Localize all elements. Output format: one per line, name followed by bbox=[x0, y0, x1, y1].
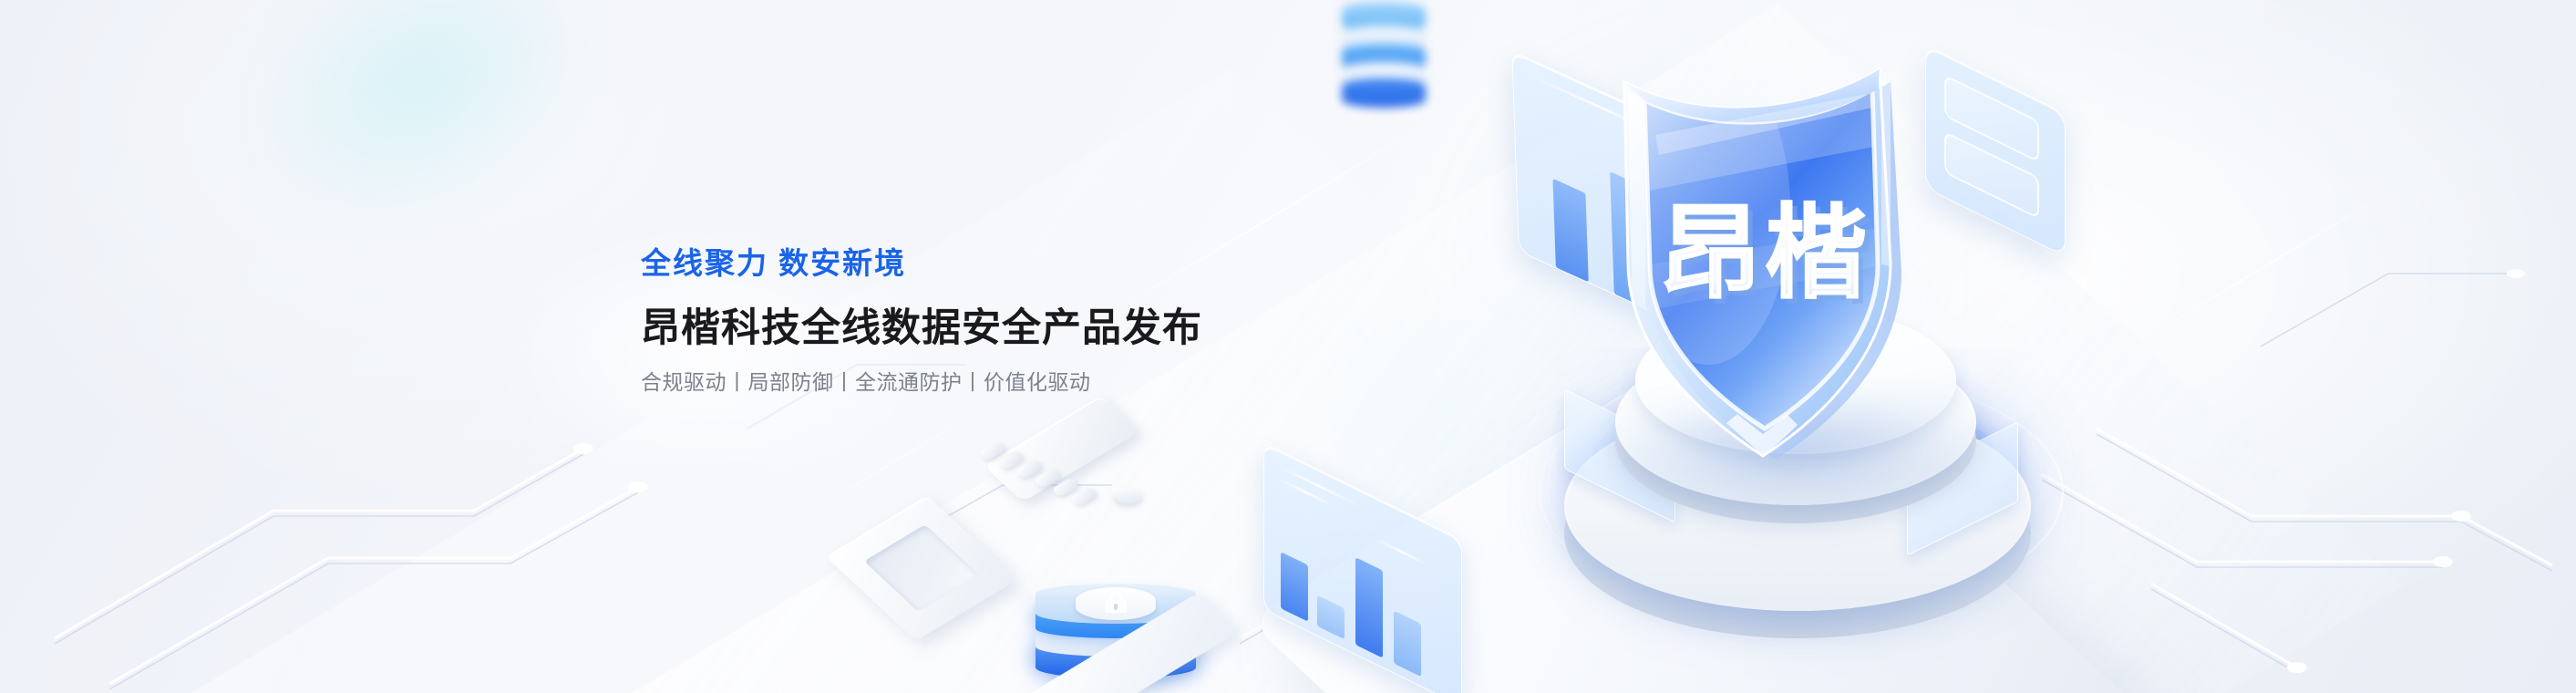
svg-text:昂楷: 昂楷 bbox=[1659, 196, 1870, 310]
database-cylinder-top bbox=[1342, 2, 1426, 109]
banner-tagline: 合规驱动丨局部防御丨全流通防护丨价值化驱动 bbox=[641, 372, 1297, 393]
shield-brand-text: 昂楷 昂楷 bbox=[1659, 196, 1876, 315]
banner-eyebrow: 全线聚力 数安新境 bbox=[641, 248, 1297, 278]
banner-headline: 昂楷科技全线数据安全产品发布 bbox=[641, 309, 1297, 348]
card-text-line bbox=[1277, 477, 1334, 507]
chip-capacitor bbox=[1114, 487, 1143, 503]
frame-icon bbox=[862, 509, 999, 646]
chart-bar bbox=[1394, 611, 1421, 677]
lock-icon bbox=[1096, 591, 1136, 616]
brand-shield: 昂楷 昂楷 bbox=[1571, 36, 1973, 465]
chart-bar bbox=[1317, 595, 1345, 640]
banner-copy: 全线聚力 数安新境 昂楷科技全线数据安全产品发布 合规驱动丨局部防御丨全流通防护… bbox=[641, 248, 1297, 393]
chart-bar bbox=[1281, 552, 1308, 622]
card-text-line bbox=[1374, 537, 1428, 566]
db-band bbox=[1342, 78, 1426, 108]
floor-ridge bbox=[2103, 184, 2401, 364]
chip-icon bbox=[977, 412, 1150, 500]
chart-bar bbox=[1355, 557, 1383, 658]
product-launch-banner: 昂楷 昂楷 bbox=[0, 0, 2576, 693]
shield-icon: 昂楷 昂楷 bbox=[1571, 36, 1973, 465]
